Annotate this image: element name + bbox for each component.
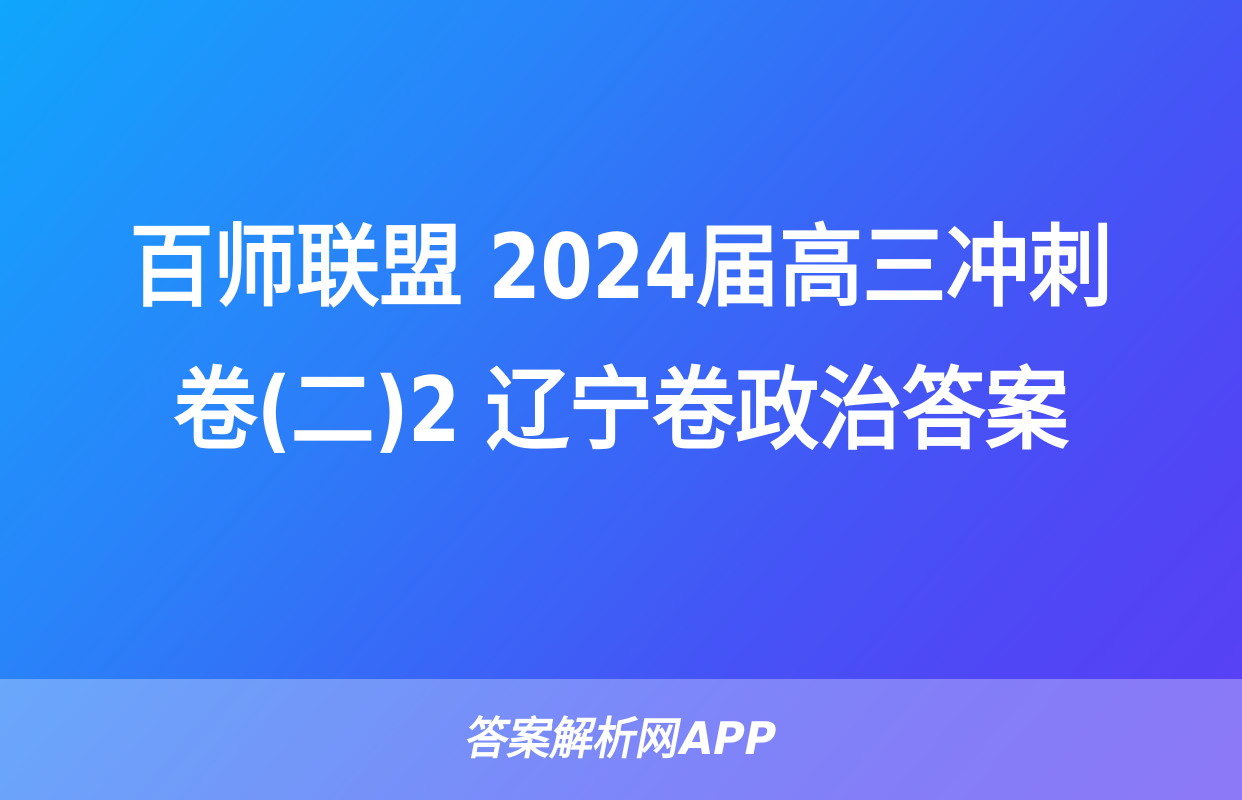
page-title: 百师联盟 2024届高三冲刺卷(二)2 辽宁卷政治答案	[113, 197, 1129, 481]
cover-card: 百师联盟 2024届高三冲刺卷(二)2 辽宁卷政治答案 答案解析网APP	[0, 0, 1242, 800]
title-area: 百师联盟 2024届高三冲刺卷(二)2 辽宁卷政治答案	[0, 0, 1242, 679]
watermark-label: 答案解析网APP	[462, 716, 781, 763]
watermark-band: 答案解析网APP	[0, 679, 1242, 800]
